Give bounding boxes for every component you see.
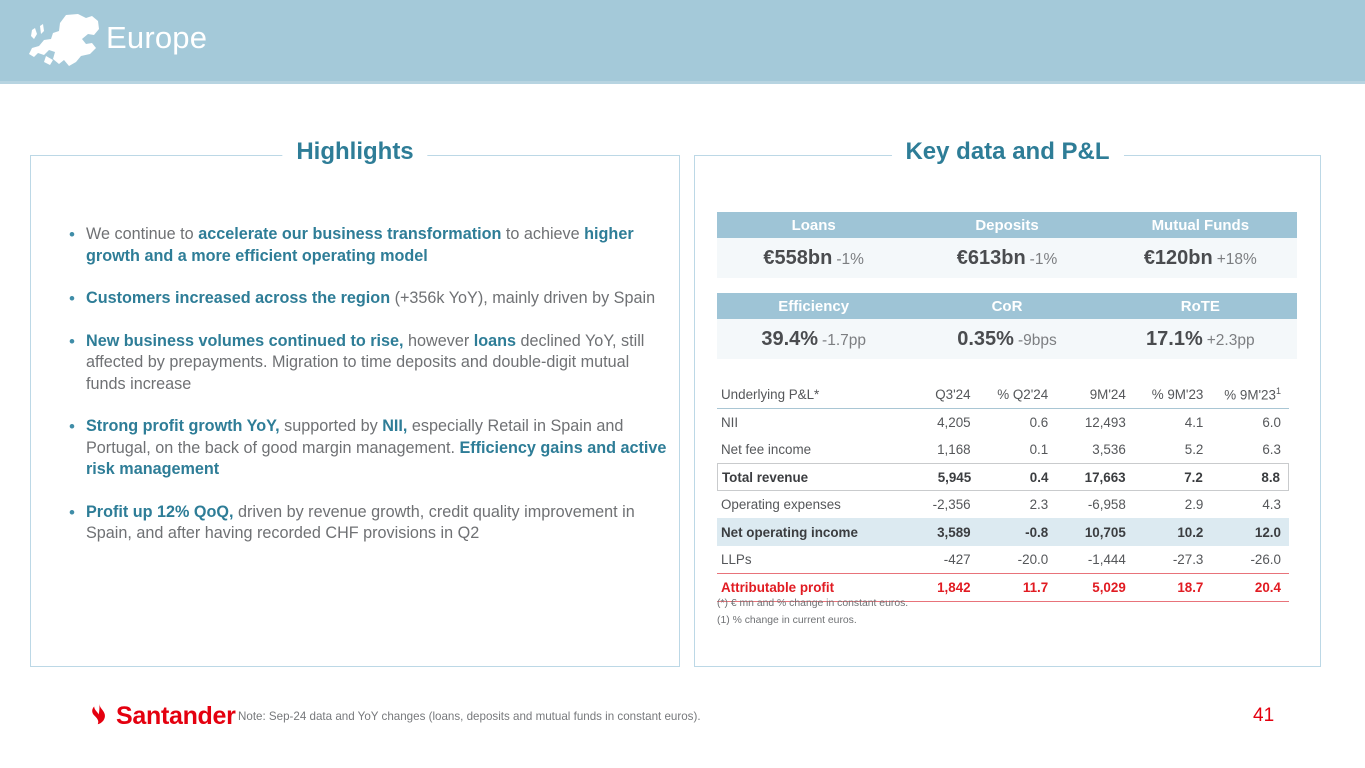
pl-cell: 3,589 [907, 525, 985, 540]
pl-cell: 11.7 [985, 580, 1063, 595]
pl-table-row: LLPs-427-20.0-1,444-27.3-26.0 [717, 546, 1289, 573]
bullet-dot-icon: • [69, 224, 86, 267]
pl-row-label: NII [717, 415, 907, 430]
pl-cell: 1,842 [907, 580, 985, 595]
kpi-header-row: Efficiency CoR RoTE [717, 293, 1297, 319]
highlight-bullet-text: Customers increased across the region (+… [86, 288, 669, 310]
pl-cell: 7.2 [1140, 470, 1217, 485]
kpi-value-row: 39.4%-1.7pp 0.35%-9bps 17.1%+2.3pp [717, 319, 1297, 359]
kpi-header-cor: CoR [910, 298, 1103, 315]
kpi-loans-amount: €558bn [763, 247, 832, 269]
kpi-block-balances: Loans Deposits Mutual Funds €558bn-1% €6… [717, 212, 1297, 278]
pl-table-row: NII4,2050.612,4934.16.0 [717, 409, 1289, 436]
santander-wordmark: Santander [116, 702, 236, 731]
pl-cell: 5,029 [1062, 580, 1140, 595]
footnote: (*) € mn and % change in constant euros. [717, 598, 908, 609]
kpi-efficiency-amount: 39.4% [761, 328, 818, 350]
highlight-bullet-text: New business volumes continued to rise, … [86, 331, 669, 396]
pl-column-header: % 9M'23 [1140, 387, 1218, 402]
highlights-title: Highlights [282, 138, 427, 166]
pl-cell: -0.8 [985, 525, 1063, 540]
pl-cell: 12,493 [1062, 415, 1140, 430]
kpi-value-deposits: €613bn-1% [910, 247, 1103, 270]
pl-column-header: 9M'24 [1062, 387, 1140, 402]
pl-cell: 0.4 [985, 470, 1062, 485]
pl-cell: 6.0 [1217, 415, 1289, 430]
bullet-dot-icon: • [69, 416, 86, 481]
pl-cell: 2.9 [1140, 497, 1218, 512]
kpi-value-row: €558bn-1% €613bn-1% €120bn+18% [717, 238, 1297, 278]
kpi-header-row: Loans Deposits Mutual Funds [717, 212, 1297, 238]
pl-column-header: % 9M'231 [1217, 386, 1289, 402]
pl-cell: 5.2 [1140, 442, 1218, 457]
highlight-bullet: •New business volumes continued to rise,… [69, 331, 669, 396]
kpi-deposits-amount: €613bn [957, 247, 1026, 269]
kpi-value-mutual-funds: €120bn+18% [1104, 247, 1297, 270]
kpi-value-efficiency: 39.4%-1.7pp [717, 328, 910, 351]
pl-row-label: LLPs [717, 552, 907, 567]
kpi-value-loans: €558bn-1% [717, 247, 910, 270]
pl-cell: 2.3 [985, 497, 1063, 512]
pl-header-row: Underlying P&L*Q3'24% Q2'249M'24% 9M'23%… [717, 381, 1289, 409]
kpi-header-mutual-funds: Mutual Funds [1104, 217, 1297, 234]
pl-cell: 4.1 [1140, 415, 1218, 430]
pl-cell: 6.3 [1217, 442, 1289, 457]
pl-footnotes: (*) € mn and % change in constant euros.… [717, 598, 908, 632]
pl-row-label: Net fee income [717, 442, 907, 457]
highlight-bullet: •We continue to accelerate our business … [69, 224, 669, 267]
pl-table-row: Operating expenses-2,3562.3-6,9582.94.3 [717, 491, 1289, 518]
highlights-bullet-list: •We continue to accelerate our business … [69, 224, 669, 566]
pl-cell: -26.0 [1217, 552, 1289, 567]
kpi-value-rote: 17.1%+2.3pp [1104, 328, 1297, 351]
highlight-bullet: •Profit up 12% QoQ, driven by revenue gr… [69, 502, 669, 545]
kpi-header-loans: Loans [717, 217, 910, 234]
key-data-title: Key data and P&L [891, 138, 1123, 166]
footer-note: Note: Sep-24 data and YoY changes (loans… [238, 710, 701, 723]
pl-cell: -2,356 [907, 497, 985, 512]
pl-header-superscript: 1 [1276, 386, 1281, 396]
header-underline [0, 81, 1365, 84]
kpi-loans-delta: -1% [836, 251, 864, 268]
kpi-header-deposits: Deposits [910, 217, 1103, 234]
pl-column-header: Underlying P&L* [717, 387, 907, 402]
pl-cell: 17,663 [1062, 470, 1139, 485]
pl-row-label: Operating expenses [717, 497, 907, 512]
highlight-bullet-text: We continue to accelerate our business t… [86, 224, 669, 267]
kpi-cor-amount: 0.35% [957, 328, 1014, 350]
kpi-mutual-funds-amount: €120bn [1144, 247, 1213, 269]
pl-cell: 8.8 [1217, 470, 1288, 485]
pl-cell: 5,945 [908, 470, 985, 485]
bullet-dot-icon: • [69, 288, 86, 310]
pl-column-header: % Q2'24 [985, 387, 1063, 402]
europe-map-icon [20, 12, 104, 70]
header-band: Europe [0, 0, 1365, 84]
pl-cell: 12.0 [1217, 525, 1289, 540]
kpi-value-cor: 0.35%-9bps [910, 328, 1103, 351]
pl-cell: 4.3 [1217, 497, 1289, 512]
pl-cell: -427 [907, 552, 985, 567]
pl-cell: -1,444 [1062, 552, 1140, 567]
kpi-efficiency-delta: -1.7pp [822, 332, 866, 349]
key-data-panel: Key data and P&L Loans Deposits Mutual F… [694, 155, 1321, 667]
pl-cell: 0.1 [985, 442, 1063, 457]
pl-cell: 18.7 [1140, 580, 1218, 595]
pl-column-header: Q3'24 [907, 387, 985, 402]
pl-table: Underlying P&L*Q3'24% Q2'249M'24% 9M'23%… [717, 381, 1289, 602]
kpi-header-rote: RoTE [1104, 298, 1297, 315]
pl-cell: 1,168 [907, 442, 985, 457]
page-number: 41 [1253, 705, 1274, 727]
bullet-dot-icon: • [69, 331, 86, 396]
highlight-bullet-text: Profit up 12% QoQ, driven by revenue gro… [86, 502, 669, 545]
pl-cell: 4,205 [907, 415, 985, 430]
page-title: Europe [106, 20, 207, 56]
highlight-bullet-text: Strong profit growth YoY, supported by N… [86, 416, 669, 481]
pl-cell: -6,958 [1062, 497, 1140, 512]
pl-row-label: Net operating income [717, 525, 907, 540]
kpi-deposits-delta: -1% [1030, 251, 1058, 268]
kpi-header-efficiency: Efficiency [717, 298, 910, 315]
pl-cell: 10,705 [1062, 525, 1140, 540]
pl-cell: -27.3 [1140, 552, 1218, 567]
highlights-panel: Highlights •We continue to accelerate ou… [30, 155, 680, 667]
pl-cell: 0.6 [985, 415, 1063, 430]
bullet-dot-icon: • [69, 502, 86, 545]
highlight-bullet: •Customers increased across the region (… [69, 288, 669, 310]
pl-row-label: Attributable profit [717, 580, 907, 595]
kpi-block-ratios: Efficiency CoR RoTE 39.4%-1.7pp 0.35%-9b… [717, 293, 1297, 359]
footnote: (1) % change in current euros. [717, 615, 908, 626]
pl-cell: 20.4 [1217, 580, 1289, 595]
kpi-rote-delta: +2.3pp [1207, 332, 1255, 349]
kpi-rote-amount: 17.1% [1146, 328, 1203, 350]
pl-table-row: Total revenue5,9450.417,6637.28.8 [717, 463, 1289, 491]
santander-logo: Santander [88, 702, 236, 731]
pl-table-row: Net operating income3,589-0.810,70510.21… [717, 518, 1289, 546]
santander-flame-icon [88, 703, 111, 731]
pl-cell: 3,536 [1062, 442, 1140, 457]
kpi-cor-delta: -9bps [1018, 332, 1057, 349]
pl-cell: 10.2 [1140, 525, 1218, 540]
pl-row-label: Total revenue [718, 470, 908, 485]
pl-cell: -20.0 [985, 552, 1063, 567]
pl-table-row: Net fee income1,1680.13,5365.26.3 [717, 436, 1289, 463]
highlight-bullet: •Strong profit growth YoY, supported by … [69, 416, 669, 481]
kpi-mutual-funds-delta: +18% [1217, 251, 1257, 268]
